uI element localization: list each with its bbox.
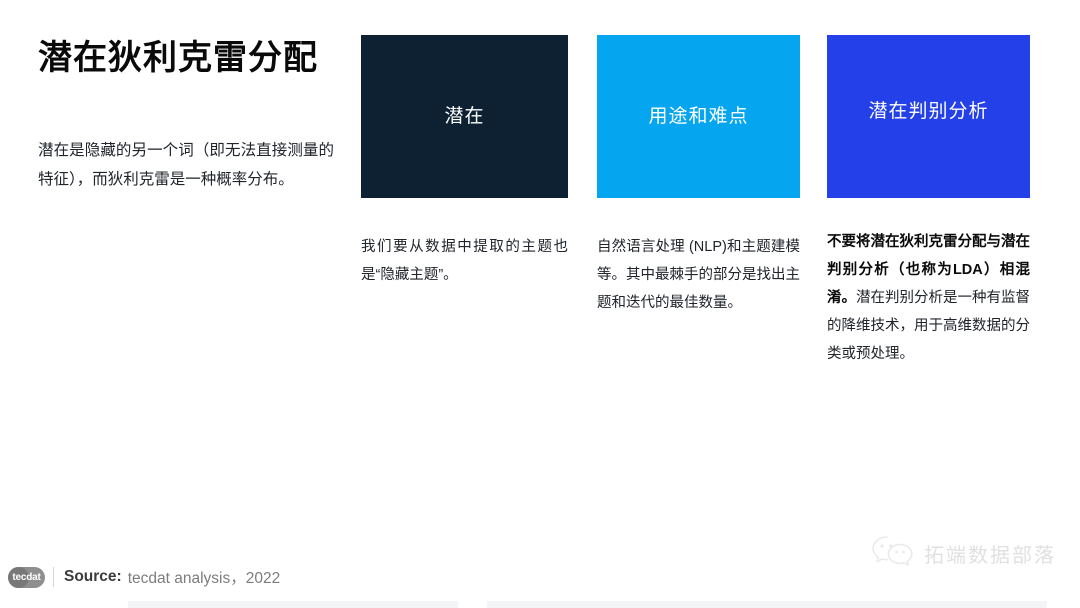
source-text: tecdat analysis，2022 [128,566,281,588]
slide-canvas: 潜在狄利克雷分配 潜在是隐藏的另一个词（即无法直接测量的特征），而狄利克雷是一种… [0,0,1080,608]
column-body-3: 不要将潜在狄利克雷分配与潜在判别分析（也称为LDA）相混淆。潜在判别分析是一种有… [827,228,1030,368]
bottom-strip-right [487,601,1047,608]
left-column: 潜在狄利克雷分配 潜在是隐藏的另一个词（即无法直接测量的特征），而狄利克雷是一种… [38,38,338,194]
content-column-2: 用途和难点 自然语言处理 (NLP)和主题建模等。其中最棘手的部分是找出主题和迭… [597,35,800,317]
watermark: 拓端数据部落 [871,535,1056,572]
card-uses-and-challenges[interactable]: 用途和难点 [597,35,800,198]
content-column-1: 潜在 我们要从数据中提取的主题也是“隐藏主题”。 [361,35,568,289]
tecdat-logo-icon: tecdat [8,567,45,588]
footer: tecdat Source: tecdat analysis，2022 [8,564,280,590]
page-title: 潜在狄利克雷分配 [38,38,338,80]
tecdat-logo-text: tecdat [12,572,40,583]
slide-intro-paragraph: 潜在是隐藏的另一个词（即无法直接测量的特征），而狄利克雷是一种概率分布。 [38,136,334,194]
column-body-2: 自然语言处理 (NLP)和主题建模等。其中最棘手的部分是找出主题和迭代的最佳数量… [597,233,800,317]
card-title-3: 潜在判别分析 [868,100,988,124]
card-title-1: 潜在 [444,105,484,129]
wechat-icon [871,535,915,572]
card-latent[interactable]: 潜在 [361,35,568,198]
card-latent-discriminant-analysis[interactable]: 潜在判别分析 [827,35,1030,198]
column-body-1: 我们要从数据中提取的主题也是“隐藏主题”。 [361,233,568,289]
card-title-2: 用途和难点 [648,105,748,129]
footer-divider [53,567,54,587]
column-body-3-rest: 潜在判别分析是一种有监督的降维技术，用于高维数据的分类或预处理。 [827,290,1030,362]
watermark-text: 拓端数据部落 [924,539,1056,568]
bottom-strip-left [128,601,458,608]
source-label: Source: [64,568,122,586]
content-column-3: 潜在判别分析 不要将潜在狄利克雷分配与潜在判别分析（也称为LDA）相混淆。潜在判… [827,35,1030,368]
